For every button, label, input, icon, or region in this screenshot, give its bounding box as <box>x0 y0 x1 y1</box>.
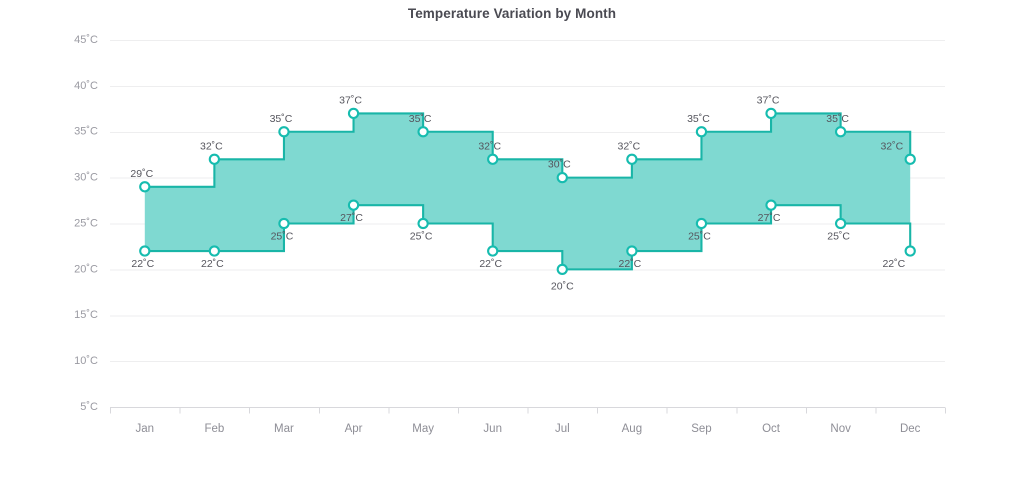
chart-container: Temperature Variation by Month 45˚C40˚C3… <box>0 0 1024 479</box>
data-label-min-may: 25˚C <box>410 231 433 243</box>
data-label-max-sep: 35˚C <box>687 113 710 125</box>
temperature-range-band <box>145 113 910 269</box>
data-label-min-apr: 27˚C <box>340 212 363 224</box>
data-label-min-jul: 20˚C <box>551 280 574 292</box>
data-label-min-nov: 25˚C <box>827 231 850 243</box>
data-point-marker-min-may[interactable] <box>419 219 428 228</box>
data-point-marker-max-jun[interactable] <box>488 155 497 164</box>
data-label-max-mar: 35˚C <box>270 113 293 125</box>
data-point-marker-max-nov[interactable] <box>836 127 845 136</box>
chart-plot-area: 45˚C40˚C35˚C30˚C25˚C20˚C15˚C10˚C5˚C JanF… <box>0 0 1024 479</box>
y-axis-tick-label: 45˚C <box>74 34 98 46</box>
y-axis-tick-label: 25˚C <box>74 217 98 229</box>
data-label-max-dec: 32˚C <box>880 140 903 152</box>
x-axis-label-jan[interactable]: Jan <box>136 423 155 435</box>
data-point-marker-min-dec[interactable] <box>906 246 915 255</box>
data-label-max-jun: 32˚C <box>478 140 501 152</box>
data-point-marker-min-aug[interactable] <box>627 246 636 255</box>
x-axis-label-aug[interactable]: Aug <box>622 423 642 435</box>
x-axis-label-apr[interactable]: Apr <box>345 423 363 435</box>
data-point-marker-min-apr[interactable] <box>349 201 358 210</box>
data-point-marker-min-nov[interactable] <box>836 219 845 228</box>
data-point-marker-max-aug[interactable] <box>627 155 636 164</box>
y-axis-tick-label: 20˚C <box>74 263 98 275</box>
data-point-marker-min-sep[interactable] <box>697 219 706 228</box>
data-label-max-feb: 32˚C <box>200 140 223 152</box>
data-point-marker-max-jan[interactable] <box>140 182 149 191</box>
data-label-max-aug: 32˚C <box>617 140 640 152</box>
data-point-marker-min-jan[interactable] <box>140 246 149 255</box>
data-point-marker-max-feb[interactable] <box>210 155 219 164</box>
data-point-marker-max-apr[interactable] <box>349 109 358 118</box>
data-label-min-dec: 22˚C <box>882 258 905 270</box>
x-axis-label-feb[interactable]: Feb <box>204 423 224 435</box>
data-label-max-oct: 37˚C <box>757 94 780 106</box>
y-axis-tick-label: 35˚C <box>74 126 98 138</box>
data-point-marker-min-mar[interactable] <box>279 219 288 228</box>
data-point-marker-max-jul[interactable] <box>558 173 567 182</box>
data-point-marker-min-jun[interactable] <box>488 246 497 255</box>
data-label-min-oct: 27˚C <box>758 212 781 224</box>
data-label-max-nov: 35˚C <box>826 113 849 125</box>
data-point-marker-min-jul[interactable] <box>558 265 567 274</box>
x-axis-label-sep[interactable]: Sep <box>691 423 711 435</box>
data-label-min-feb: 22˚C <box>201 258 224 270</box>
y-axis-tick-label: 40˚C <box>74 80 98 92</box>
data-point-marker-min-feb[interactable] <box>210 246 219 255</box>
data-point-marker-max-sep[interactable] <box>697 127 706 136</box>
data-point-marker-max-oct[interactable] <box>766 109 775 118</box>
y-axis-tick-label: 15˚C <box>74 309 98 321</box>
data-point-marker-min-oct[interactable] <box>766 201 775 210</box>
data-label-min-mar: 25˚C <box>271 231 294 243</box>
y-axis-tick-label: 10˚C <box>74 355 98 367</box>
data-label-min-jan: 22˚C <box>131 258 154 270</box>
x-axis-label-may[interactable]: May <box>412 423 434 435</box>
data-point-marker-max-dec[interactable] <box>906 155 915 164</box>
y-axis-labels: 45˚C40˚C35˚C30˚C25˚C20˚C15˚C10˚C5˚C <box>74 34 98 413</box>
data-label-max-jan: 29˚C <box>130 168 153 180</box>
data-label-max-apr: 37˚C <box>339 94 362 106</box>
x-axis-label-oct[interactable]: Oct <box>762 423 781 435</box>
data-point-marker-max-may[interactable] <box>419 127 428 136</box>
y-axis-tick-label: 30˚C <box>74 172 98 184</box>
data-label-min-jun: 22˚C <box>479 258 502 270</box>
x-axis-label-mar[interactable]: Mar <box>274 423 294 435</box>
x-axis-label-dec[interactable]: Dec <box>900 423 921 435</box>
data-label-max-jul: 30˚C <box>548 159 571 171</box>
data-point-marker-max-mar[interactable] <box>279 127 288 136</box>
y-axis-tick-label: 5˚C <box>80 401 98 413</box>
data-label-max-may: 35˚C <box>409 113 432 125</box>
x-axis-label-jun[interactable]: Jun <box>483 423 502 435</box>
x-axis-label-jul[interactable]: Jul <box>555 423 570 435</box>
x-axis-label-nov[interactable]: Nov <box>830 423 851 435</box>
data-label-min-aug: 22˚C <box>618 258 641 270</box>
data-label-min-sep: 25˚C <box>688 231 711 243</box>
x-axis: JanFebMarAprMayJunJulAugSepOctNovDec <box>110 408 946 436</box>
range-area <box>145 113 910 269</box>
